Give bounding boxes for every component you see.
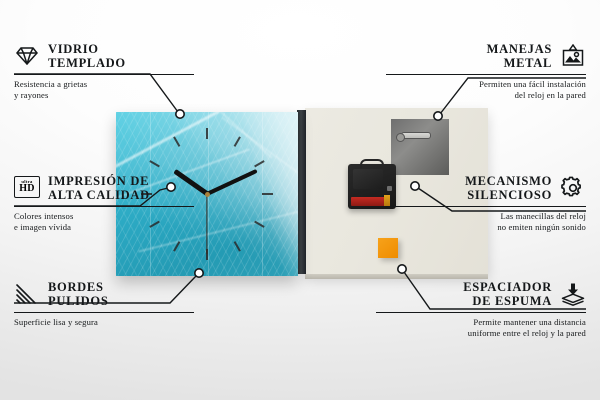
callout-title: IMPRESIÓN DE ALTA CALIDAD — [48, 174, 150, 202]
minute-hand — [206, 169, 258, 196]
clock-tick — [262, 193, 273, 195]
clock-tick — [254, 221, 265, 228]
ultra-hd-icon: ultraHD — [14, 176, 40, 200]
clock-tick — [234, 136, 241, 147]
clock-center-cap — [205, 192, 210, 197]
mechanism-face — [353, 169, 383, 189]
callout-mecanismo-silencioso[interactable]: MECANISMO SILENCIOSO Las manecillas del … — [386, 174, 586, 233]
callout-header: ESPACIADOR DE ESPUMA — [376, 280, 586, 308]
callout-espaciador-espuma[interactable]: ESPACIADOR DE ESPUMA Permite mantener un… — [376, 280, 586, 339]
callout-title: VIDRIO TEMPLADO — [48, 42, 126, 70]
clock-tick — [234, 241, 241, 252]
callout-desc-line2: uniforme entre el reloj y la pared — [376, 328, 586, 339]
clock-tick — [206, 128, 208, 139]
polished-edge-icon — [14, 282, 40, 306]
clock-tick — [173, 136, 180, 147]
glass-edge-strip — [297, 110, 306, 274]
callout-bordes-pulidos[interactable]: BORDES PULIDOS Superficie lisa y segura — [14, 280, 194, 328]
infographic-canvas: VIDRIO TEMPLADO Resistencia a grietas y … — [0, 0, 600, 400]
diamond-icon — [14, 44, 40, 68]
battery-part — [351, 197, 389, 206]
callout-divider — [14, 74, 194, 75]
callout-desc-line2: e imagen vívida — [14, 222, 194, 233]
callout-divider — [386, 206, 586, 207]
callout-divider — [376, 312, 586, 313]
callout-desc-line2: no emiten ningún sonido — [386, 222, 586, 233]
callout-desc-line1: Resistencia a grietas — [14, 79, 194, 90]
foam-spacer-icon — [560, 282, 586, 306]
second-hand — [206, 194, 207, 254]
foam-spacer-part — [378, 238, 398, 258]
callout-header: BORDES PULIDOS — [14, 280, 194, 308]
callout-desc-line1: Superficie lisa y segura — [14, 317, 194, 328]
callout-title: BORDES PULIDOS — [48, 280, 108, 308]
callout-manejas-metal[interactable]: MANEJAS METAL Permiten una fácil instala… — [386, 42, 586, 101]
clock-tick — [149, 160, 160, 167]
callout-impresion-alta-calidad[interactable]: ultraHD IMPRESIÓN DE ALTA CALIDAD Colore… — [14, 174, 194, 233]
gear-icon — [560, 176, 586, 200]
mechanism-loop — [360, 159, 384, 168]
callout-title: MANEJAS METAL — [487, 42, 552, 70]
clock-tick — [173, 241, 180, 252]
callout-title: ESPACIADOR DE ESPUMA — [463, 280, 552, 308]
callout-desc-line2: y rayones — [14, 90, 194, 101]
callout-divider — [386, 74, 586, 75]
hanging-frame-icon — [560, 44, 586, 68]
callout-divider — [14, 206, 194, 207]
callout-title: MECANISMO SILENCIOSO — [465, 174, 552, 202]
callout-header: MECANISMO SILENCIOSO — [386, 174, 586, 202]
metal-hanger-part — [391, 119, 449, 175]
callout-header: MANEJAS METAL — [386, 42, 586, 70]
callout-desc-line1: Las manecillas del reloj — [386, 211, 586, 222]
callout-desc-line1: Colores intensos — [14, 211, 194, 222]
callout-header: VIDRIO TEMPLADO — [14, 42, 194, 70]
callout-desc-line2: del reloj en la pared — [386, 90, 586, 101]
callout-header: ultraHD IMPRESIÓN DE ALTA CALIDAD — [14, 174, 194, 202]
hanger-slot — [401, 132, 431, 139]
callout-vidrio-templado[interactable]: VIDRIO TEMPLADO Resistencia a grietas y … — [14, 42, 194, 101]
callout-desc-line1: Permiten una fácil instalación — [386, 79, 586, 90]
callout-divider — [14, 312, 194, 313]
clock-tick — [254, 160, 265, 167]
callout-desc-line1: Permite mantener una distancia — [376, 317, 586, 328]
